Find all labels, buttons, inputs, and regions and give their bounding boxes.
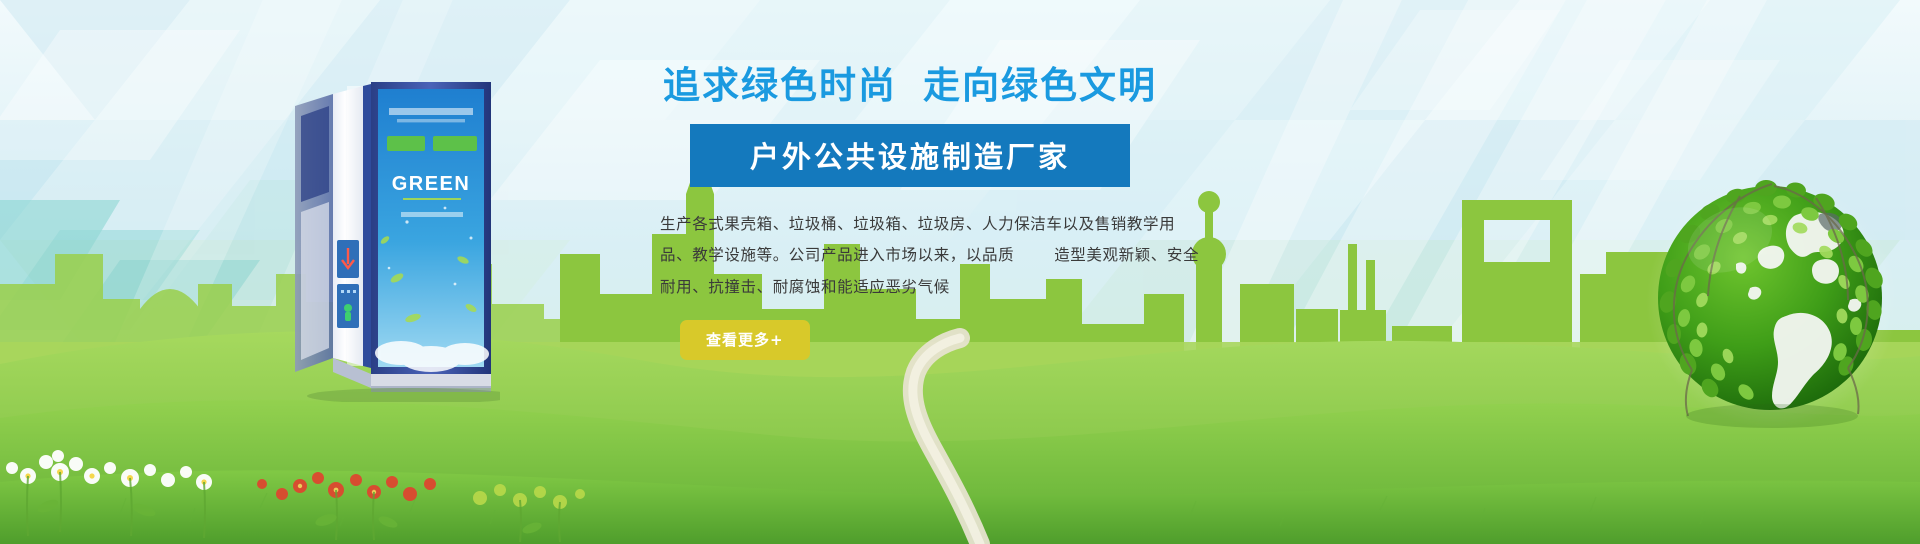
- banner-headline: 追求绿色时尚走向绿色文明: [640, 66, 1180, 107]
- svg-text:GREEN: GREEN: [392, 173, 471, 195]
- view-more-button[interactable]: 查看更多+: [680, 320, 810, 360]
- cta-container: 查看更多+: [660, 320, 1160, 360]
- description-line-1: 生产各式果壳箱、垃圾桶、垃圾箱、垃圾房、人力保洁车以及售销教学用: [660, 209, 1160, 241]
- green-leaf-globe: [1644, 168, 1902, 436]
- description-line-3: 耐用、抗撞击、耐腐蚀和能适应恶劣气候: [660, 272, 1160, 304]
- description-line-2: 品、教学设施等。公司产品进入市场以来，以品质造型美观新颖、安全: [660, 240, 1160, 272]
- subtitle-bar: 户外公共设施制造厂家: [690, 124, 1130, 187]
- kiosk-lightbox-product: GREEN: [285, 72, 500, 402]
- description-line-2b: 造型美观新颖、安全: [1054, 246, 1199, 264]
- hero-banner: GREEN: [0, 0, 1920, 544]
- description-line-2a: 品、教学设施等。公司产品进入市场以来，以品质: [660, 246, 1014, 264]
- foreground-flowers: [0, 414, 760, 544]
- headline-part-2: 走向绿色文明: [923, 64, 1157, 107]
- banner-description: 生产各式果壳箱、垃圾桶、垃圾箱、垃圾房、人力保洁车以及售销教学用 品、教学设施等…: [660, 209, 1160, 304]
- headline-part-1: 追求绿色时尚: [663, 64, 897, 107]
- banner-copy-block: 追求绿色时尚走向绿色文明 户外公共设施制造厂家 生产各式果壳箱、垃圾桶、垃圾箱、…: [640, 66, 1180, 360]
